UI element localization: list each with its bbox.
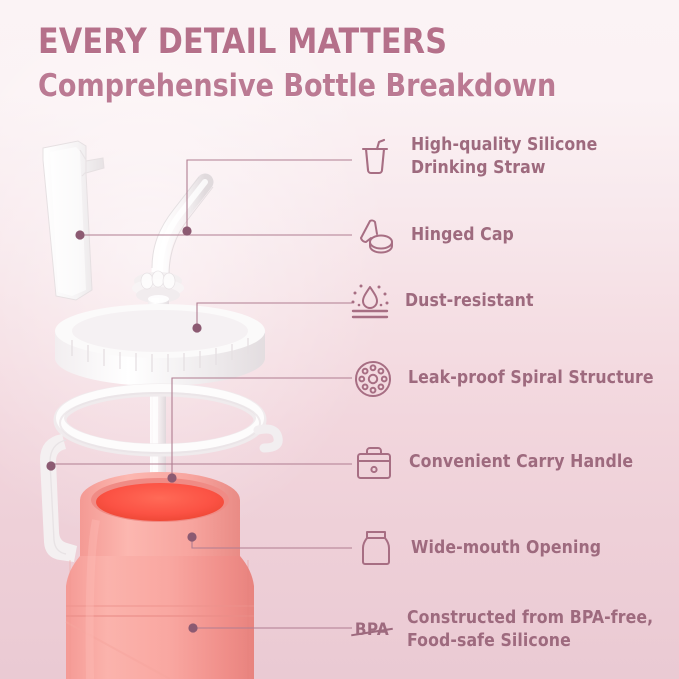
feature-bpa-free[interactable]: BPA Constructed from BPA-free, Food-safe… (351, 607, 653, 654)
feature-carry-handle[interactable]: Convenient Carry Handle (353, 442, 633, 484)
feature-label: High-quality Silicone Drinking Straw (411, 134, 597, 181)
part-carry-handle (40, 434, 77, 562)
part-bottle-body (66, 472, 254, 679)
dust-droplet-icon (349, 281, 391, 323)
feature-hinged-cap[interactable]: Hinged Cap (355, 215, 514, 257)
jar-opening-icon (355, 528, 397, 570)
feature-label: Constructed from BPA-free, Food-safe Sil… (407, 607, 653, 654)
feature-label: Dust-resistant (405, 290, 534, 313)
product-illustration (0, 0, 360, 679)
part-flip-lid (43, 141, 104, 300)
feature-label: Convenient Carry Handle (409, 451, 633, 474)
briefcase-icon (353, 442, 395, 484)
bpa-crossed-icon: BPA (351, 609, 393, 651)
infographic-canvas: EVERY DETAIL MATTERS Comprehensive Bottl… (0, 0, 679, 679)
feature-label: Leak-proof Spiral Structure (408, 367, 654, 390)
feature-wide-mouth[interactable]: Wide-mouth Opening (355, 528, 601, 570)
feature-dust-resistant[interactable]: Dust-resistant (349, 281, 534, 323)
feature-label: Wide-mouth Opening (411, 537, 601, 560)
bpa-text: BPA (355, 620, 389, 640)
hinged-cap-icon (355, 215, 397, 257)
feature-drinking-straw[interactable]: High-quality Silicone Drinking Straw (355, 134, 597, 181)
feature-label: Hinged Cap (411, 224, 514, 247)
cup-with-straw-icon (355, 136, 397, 178)
spiral-seal-icon (352, 358, 394, 400)
part-ribbed-screw-cap (55, 304, 265, 386)
part-sealing-ring (60, 388, 278, 453)
feature-leak-proof[interactable]: Leak-proof Spiral Structure (352, 358, 654, 400)
